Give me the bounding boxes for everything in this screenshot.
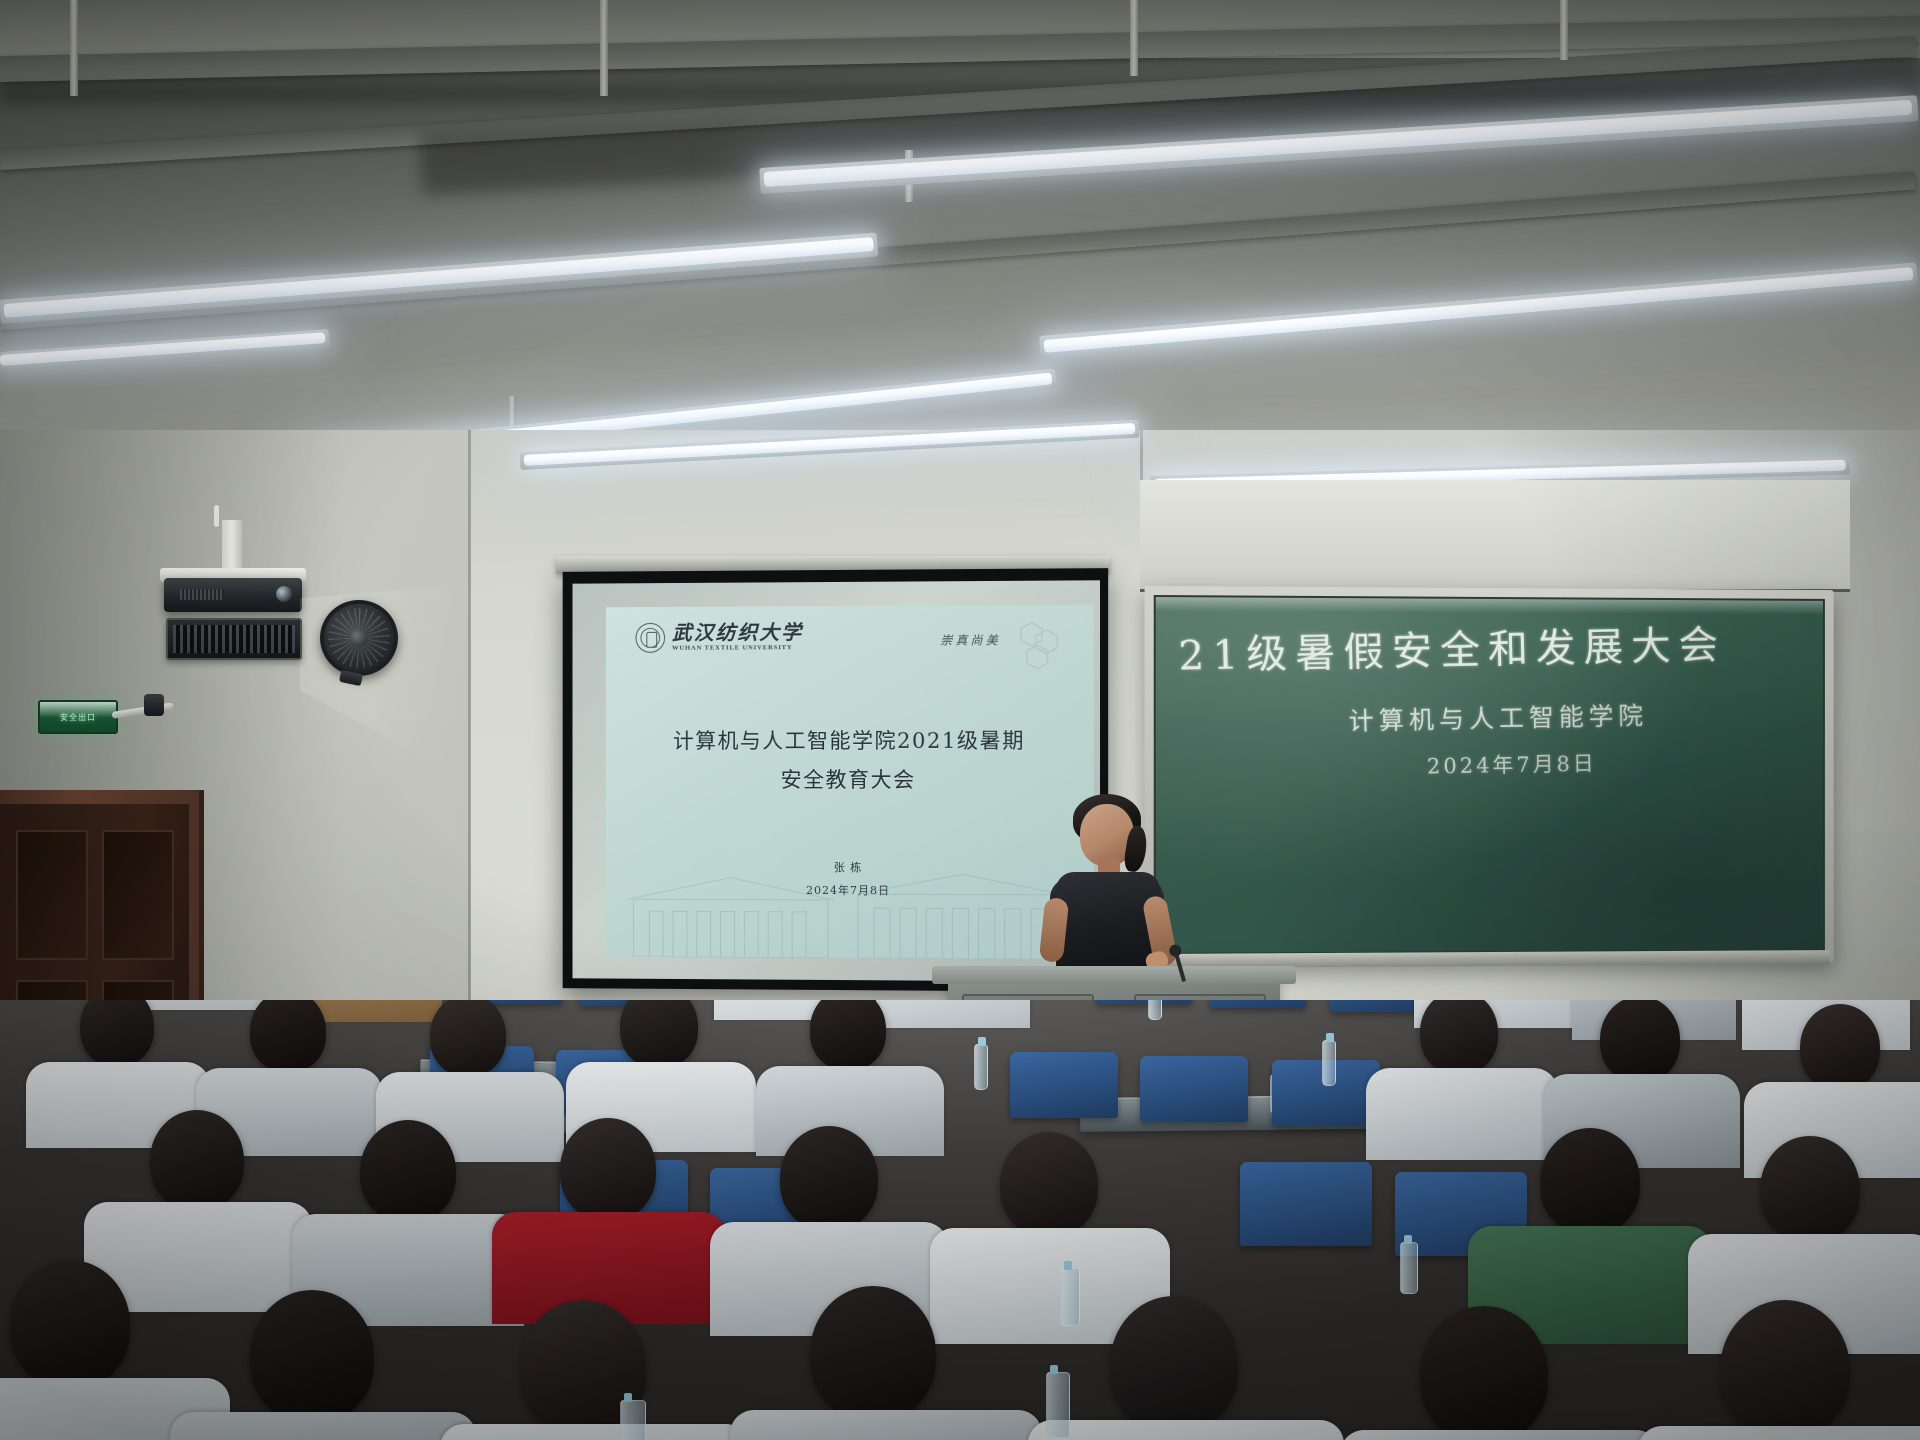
exit-sign-glow (40, 702, 116, 718)
audience-head (780, 1126, 878, 1230)
audience-head (620, 1000, 698, 1068)
university-name-en: WUHAN TEXTILE UNIVERSITY (672, 645, 803, 652)
university-logo: 武汉纺织大学 WUHAN TEXTILE UNIVERSITY (635, 622, 803, 653)
wall-above-blackboard (1140, 480, 1850, 592)
light-hanger (1130, 0, 1138, 76)
audience-head (1000, 1132, 1098, 1236)
slide-motto: 崇真尚美 (940, 631, 1000, 648)
ceiling (0, 0, 1920, 470)
audience-head (430, 1000, 506, 1076)
light-hanger (70, 0, 78, 96)
camera-icon (144, 694, 164, 716)
podium-top-surface (932, 966, 1296, 984)
audience-head (1600, 1000, 1680, 1082)
blackboard: 21级暑假安全和发展大会 计算机与人工智能学院 2024年7月8日 (1145, 586, 1834, 966)
campus-building-watermark (620, 865, 1080, 959)
blackboard-surface: 21级暑假安全和发展大会 计算机与人工智能学院 2024年7月8日 (1154, 595, 1825, 955)
audience-shoulders (730, 1410, 1042, 1440)
audience-shoulders (876, 1000, 1030, 1028)
projector-vent (180, 589, 224, 600)
audience-head (810, 1286, 936, 1420)
seat-back[interactable] (1210, 1000, 1306, 1008)
ceiling-projector-icon (164, 578, 302, 612)
audience-shoulders (1638, 1426, 1920, 1440)
slide-title-line2: 安全教育大会 (606, 761, 1094, 800)
screen-surface: 武汉纺织大学 WUHAN TEXTILE UNIVERSITY 崇真尚美 计算机… (572, 580, 1100, 981)
seat-back[interactable] (1240, 1162, 1372, 1246)
audience-head (1420, 1306, 1548, 1440)
seat-back[interactable] (1140, 1056, 1248, 1122)
audience-head (80, 1000, 154, 1066)
audience-head (150, 1110, 244, 1210)
audience-head (1760, 1136, 1860, 1242)
audience-head (360, 1120, 456, 1222)
slide-title: 计算机与人工智能学院2021级暑期 安全教育大会 (606, 722, 1094, 800)
fluorescent-tube (3, 237, 874, 318)
water-bottle[interactable] (974, 1044, 988, 1090)
audience-shoulders (1366, 1068, 1558, 1160)
water-bottle[interactable] (1322, 1040, 1336, 1086)
projection-screen: 武汉纺织大学 WUHAN TEXTILE UNIVERSITY 崇真尚美 计算机… (563, 568, 1108, 992)
audience-shoulders (440, 1424, 750, 1440)
blackboard-sheen (1156, 597, 1823, 953)
water-bottle[interactable] (620, 1400, 646, 1440)
audience-head (560, 1118, 656, 1220)
audience-head (1800, 1004, 1880, 1090)
light-hanger (600, 0, 608, 96)
projector-mount (222, 520, 242, 574)
audience-shoulders (1340, 1430, 1660, 1440)
speaker-grille-box (166, 618, 302, 660)
audience-shoulders (170, 1412, 476, 1440)
wall-fan-icon (320, 600, 398, 676)
audience-head (1540, 1128, 1640, 1234)
grille-pattern (173, 625, 295, 653)
audience-head (1110, 1296, 1238, 1432)
presenter-torso (1056, 872, 1160, 972)
water-bottle[interactable] (1046, 1372, 1070, 1438)
slide-title-line1: 计算机与人工智能学院2021级暑期 (606, 722, 1094, 761)
water-bottle[interactable] (1400, 1242, 1418, 1294)
light-hanger (1560, 0, 1568, 60)
fan-hub (350, 629, 368, 647)
presentation-slide: 武汉纺织大学 WUHAN TEXTILE UNIVERSITY 崇真尚美 计算机… (606, 605, 1094, 960)
water-bottle[interactable] (1148, 1000, 1162, 1020)
audience-head (10, 1260, 130, 1388)
fluorescent-tube (1043, 267, 1913, 353)
audience-shoulders (1028, 1420, 1344, 1440)
projector-lens-icon (276, 586, 292, 602)
lecture-hall-photo: 安全出口 (0, 0, 1920, 1440)
university-seal-icon (635, 623, 665, 653)
water-bottle[interactable] (1060, 1268, 1080, 1326)
audience-head (1720, 1300, 1850, 1438)
audience-head (1420, 1000, 1498, 1074)
seat-back[interactable] (1330, 1000, 1426, 1012)
hexagon-decoration-icon (1011, 617, 1068, 674)
audience-head (250, 1290, 374, 1422)
university-name-cn: 武汉纺织大学 (672, 622, 803, 643)
audience-head (810, 1000, 886, 1070)
projector-cable (214, 505, 219, 527)
audience-head (250, 1000, 326, 1072)
presenter-figure (1040, 800, 1170, 970)
seat-back[interactable] (1010, 1052, 1118, 1118)
seat-back[interactable] (1096, 1000, 1192, 1004)
exit-sign: 安全出口 (38, 700, 118, 734)
audience-area (0, 1000, 1920, 1440)
